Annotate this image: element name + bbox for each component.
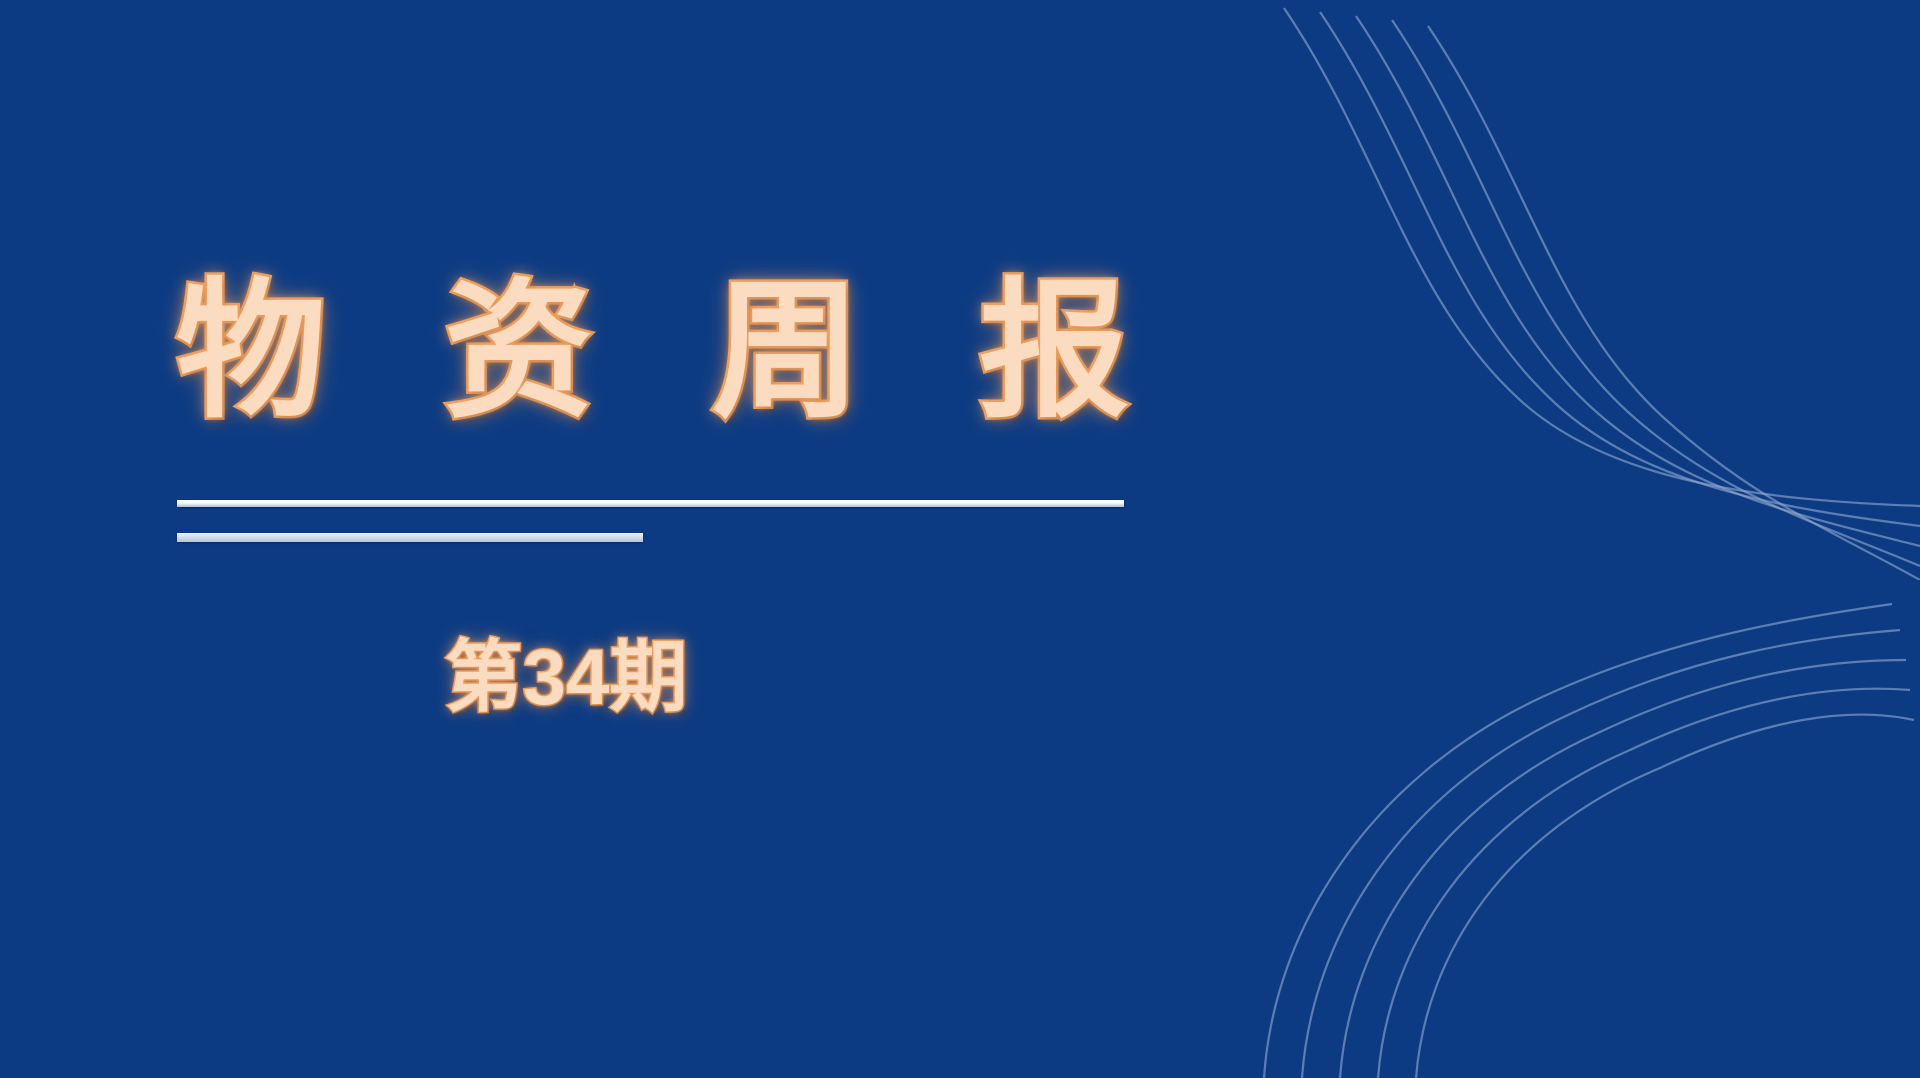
deco-curve-4: [1392, 20, 1920, 566]
deco-arc-2: [1302, 630, 1900, 1078]
curved-lines-top-right-icon: [1260, 0, 1920, 580]
deco-arc-3: [1340, 660, 1906, 1078]
deco-curve-1: [1284, 8, 1920, 506]
page-title: 物 资 周 报: [176, 276, 1176, 426]
title-slide: 物 资 周 报 第34期: [0, 0, 1920, 1078]
deco-arc-1: [1264, 604, 1892, 1078]
title-underline-long: [177, 500, 1124, 507]
deco-curve-5: [1428, 26, 1920, 580]
curved-lines-bottom-right-decoration: [1240, 578, 1920, 1078]
deco-curve-3: [1356, 16, 1920, 546]
deco-arc-5: [1416, 715, 1914, 1078]
issue-subtitle: 第34期: [176, 638, 956, 716]
curved-lines-top-right-decoration: [1260, 0, 1920, 580]
title-underline-short: [177, 533, 643, 542]
deco-curve-2: [1320, 12, 1920, 526]
deco-arc-4: [1378, 689, 1910, 1078]
title-block: 物 资 周 报: [176, 276, 1176, 426]
curved-lines-bottom-right-icon: [1240, 578, 1920, 1078]
